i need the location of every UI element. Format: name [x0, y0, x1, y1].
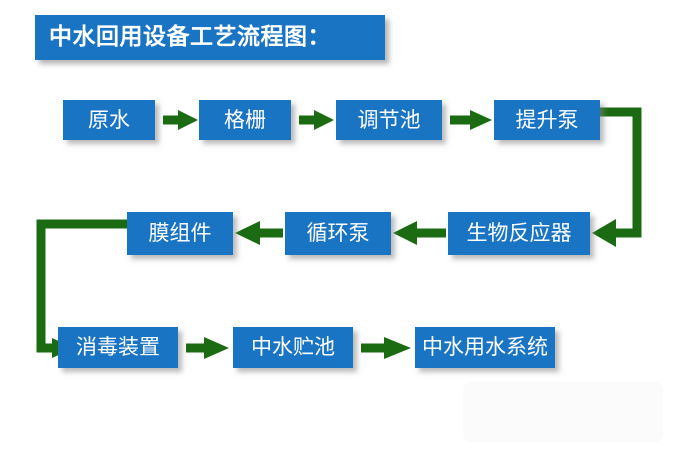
- conn-disinfect-to-tank: [186, 337, 229, 359]
- node-label: 提升泵: [516, 110, 579, 131]
- diagram-canvas: 中水回用设备工艺流程图：: [0, 0, 683, 452]
- conn-tank-to-pump: [450, 110, 492, 130]
- conn-grille-to-tank: [299, 110, 334, 130]
- node-label: 中水贮池: [251, 337, 335, 358]
- node-label: 中水用水系统: [422, 337, 548, 358]
- node-bioreactor[interactable]: 生物反应器: [448, 212, 590, 255]
- node-membrane-module[interactable]: 膜组件: [127, 212, 233, 255]
- node-grille[interactable]: 格栅: [199, 100, 291, 140]
- node-label: 膜组件: [149, 223, 212, 244]
- node-label: 消毒装置: [76, 337, 160, 358]
- background-watermark: [463, 382, 663, 442]
- node-disinfection-device[interactable]: 消毒装置: [58, 327, 178, 368]
- node-lift-pump[interactable]: 提升泵: [494, 100, 600, 140]
- node-regulating-tank[interactable]: 调节池: [336, 100, 442, 140]
- node-circulation-pump[interactable]: 循环泵: [285, 212, 391, 255]
- node-label: 调节池: [358, 110, 421, 131]
- conn-circ-to-membrane: [235, 221, 283, 245]
- node-reclaimed-water-tank[interactable]: 中水贮池: [233, 327, 353, 368]
- node-label: 循环泵: [307, 223, 370, 244]
- conn-raw-to-grille: [163, 110, 198, 130]
- node-label: 生物反应器: [467, 223, 572, 244]
- node-reclaimed-water-system[interactable]: 中水用水系统: [415, 327, 555, 368]
- page-title: 中水回用设备工艺流程图：: [49, 26, 331, 49]
- conn-tank-to-system: [361, 337, 411, 359]
- node-label: 格栅: [224, 110, 266, 131]
- node-raw-water[interactable]: 原水: [63, 100, 155, 140]
- node-label: 原水: [88, 110, 130, 131]
- conn-bioreactor-to-circ: [393, 221, 446, 245]
- diagram-title-banner: 中水回用设备工艺流程图：: [35, 15, 385, 60]
